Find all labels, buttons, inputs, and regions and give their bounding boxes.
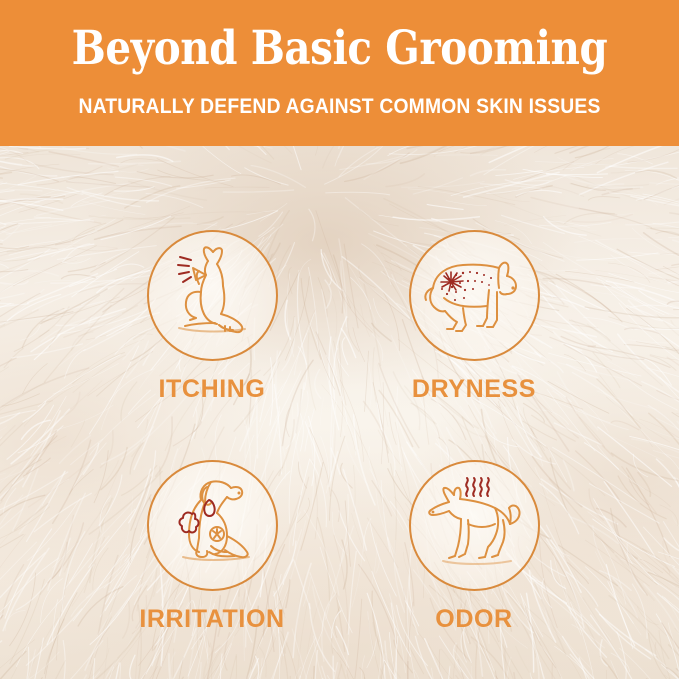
benefits-grid: ITCHING xyxy=(0,146,679,679)
benefit-label-itching: ITCHING xyxy=(102,375,322,403)
infographic-page: Beyond Basic Grooming NATURALLY DEFEND A… xyxy=(0,0,679,679)
benefit-tile-itching[interactable]: ITCHING xyxy=(102,230,322,403)
header-banner: Beyond Basic Grooming NATURALLY DEFEND A… xyxy=(0,0,679,146)
benefit-label-odor: ODOR xyxy=(364,605,584,633)
dog-flaky-skin-icon xyxy=(411,232,538,359)
page-subtitle: NATURALLY DEFEND AGAINST COMMON SKIN ISS… xyxy=(27,94,652,120)
dog-scratching-icon xyxy=(149,232,276,359)
benefit-label-irritation: IRRITATION xyxy=(102,605,322,633)
odor-icon-circle xyxy=(409,460,540,591)
benefit-tile-irritation[interactable]: IRRITATION xyxy=(102,460,322,633)
benefit-tile-dryness[interactable]: DRYNESS xyxy=(364,230,584,403)
benefit-tile-odor[interactable]: ODOR xyxy=(364,460,584,633)
dog-irritated-patch-icon xyxy=(149,462,276,589)
benefit-label-dryness: DRYNESS xyxy=(364,375,584,403)
irritation-icon-circle xyxy=(147,460,278,591)
dog-odor-icon xyxy=(411,462,538,589)
itching-icon-circle xyxy=(147,230,278,361)
page-title: Beyond Basic Grooming xyxy=(48,22,632,76)
dryness-icon-circle xyxy=(409,230,540,361)
